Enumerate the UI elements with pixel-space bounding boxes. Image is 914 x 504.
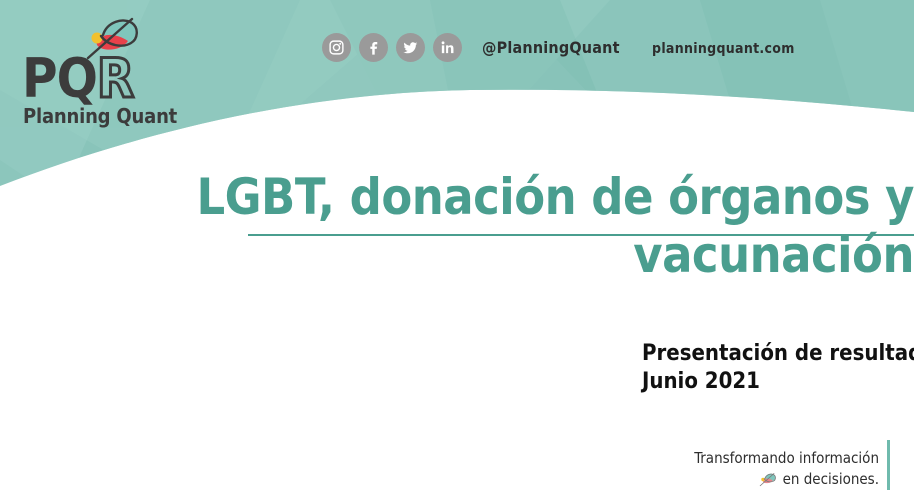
footer-tagline-line-2-row: en decisiones. [694,469,879,490]
logo-wordmark-solid: PQ [22,47,97,110]
footer-tagline-line-2: en decisiones. [783,469,879,490]
twitter-icon[interactable] [396,33,425,62]
footer-tagline-text: Transformando información en decisiones. [694,448,879,490]
facebook-icon[interactable] [359,33,388,62]
title-divider-rule [248,234,914,236]
footer-tagline: Transformando información en decisiones. [694,440,890,490]
title-line-1: LGBT, donación de órganos y [40,168,914,226]
logo-wordmark: PQR [22,52,133,106]
website-url[interactable]: planningquant.com [652,41,795,57]
instagram-icon[interactable] [322,33,351,62]
footer-tagline-line-1: Transformando información [694,448,879,469]
page-title: LGBT, donación de órganos y vacunación [40,168,914,284]
pqr-kite-mark-small-icon [758,472,778,487]
logo-tagline: Planning Quant [23,104,177,128]
subtitle-line-1: Presentación de resultados [642,340,914,368]
social-links: @PlanningQuant [322,33,620,62]
subtitle: Presentación de resultados Junio 2021 [440,340,914,396]
footer-accent-bar [887,440,890,490]
social-handle: @PlanningQuant [482,38,620,57]
logo-wordmark-outline: R [97,47,133,110]
linkedin-icon[interactable] [433,33,462,62]
subtitle-line-2: Junio 2021 [642,368,914,396]
logo: PQR Planning Quant [18,14,168,114]
title-slide: PQR Planning Quant [0,0,914,504]
